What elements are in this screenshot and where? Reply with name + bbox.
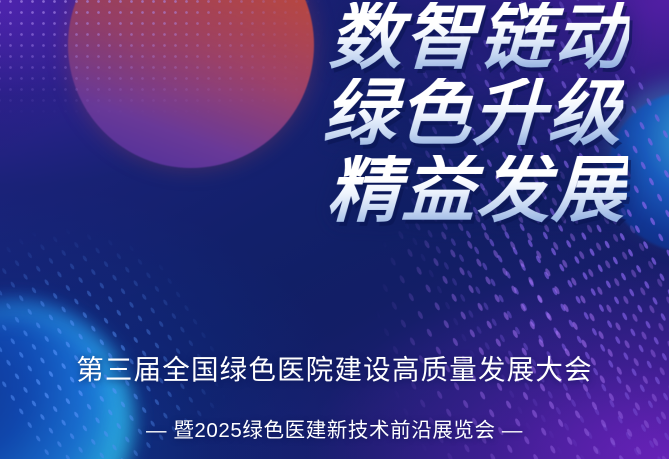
conference-title: 第三届全国绿色医院建设高质量发展大会: [0, 347, 669, 387]
headline-line-3: 精益发展: [108, 155, 629, 227]
exhibition-subtitle: — 暨2025绿色医建新技术前沿展览会 —: [0, 413, 669, 443]
headline-block: 数智链动 绿色升级 精益发展: [109, 2, 629, 231]
conference-poster: 数智链动 绿色升级 精益发展 第三届全国绿色医院建设高质量发展大会 — 暨202…: [0, 0, 669, 459]
headline-line-1: 数智链动: [108, 2, 631, 74]
footer-block: 第三届全国绿色医院建设高质量发展大会 — 暨2025绿色医建新技术前沿展览会 —: [0, 347, 669, 443]
headline-line-2: 绿色升级: [108, 78, 625, 150]
